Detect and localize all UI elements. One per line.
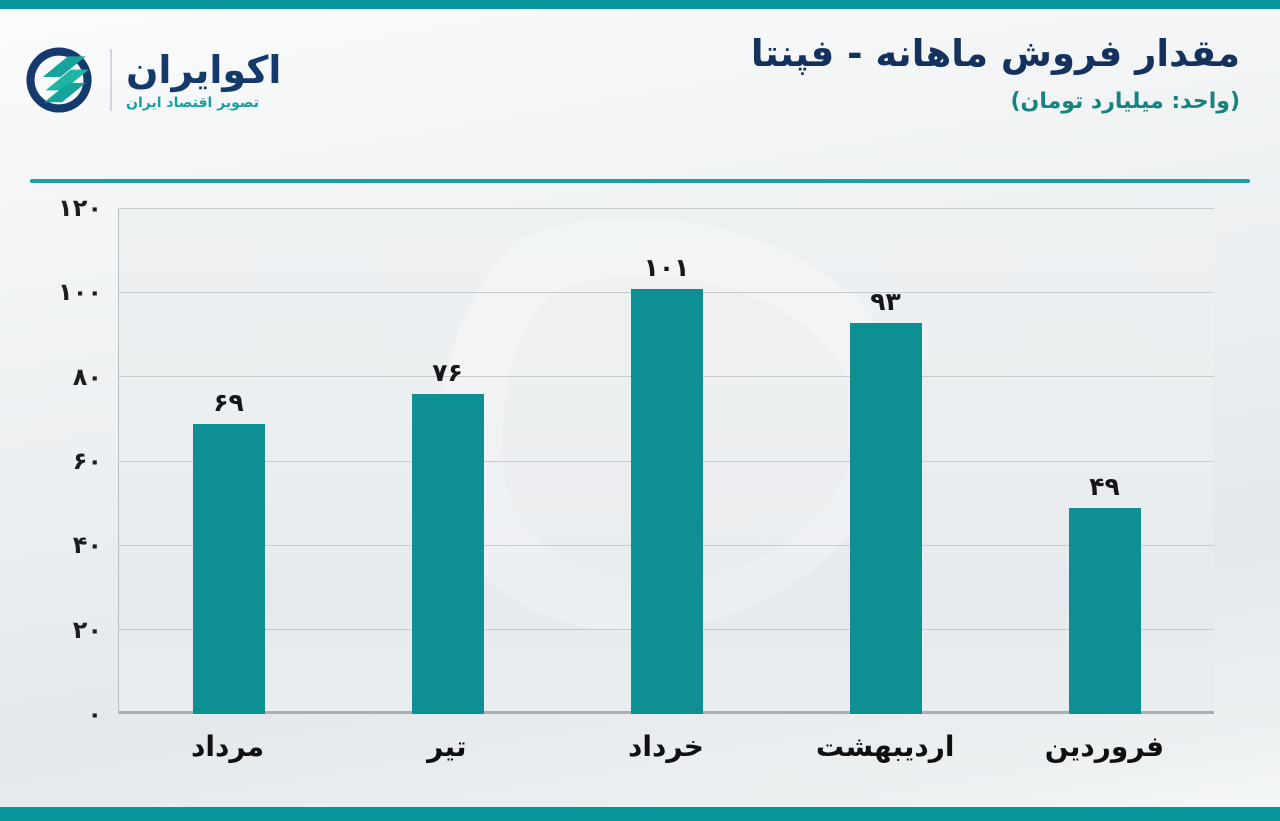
y-axis-tick-label: ۸۰ <box>73 363 102 391</box>
y-axis-tick-label: ۰ <box>87 700 102 728</box>
logo-title: اکوایران <box>126 51 281 89</box>
bar-value-label: ۴۹ <box>1089 472 1120 501</box>
x-axis-category-label: فروردین <box>995 730 1214 763</box>
bar-slot: ۱۰۱ <box>557 209 776 714</box>
bar[interactable]: ۴۹ <box>1069 508 1141 714</box>
bar-slot: ۹۳ <box>776 209 995 714</box>
x-axis-category-label: مرداد <box>118 730 337 763</box>
bar-slot: ۷۶ <box>338 209 557 714</box>
page-title: مقدار فروش ماهانه - فپنتا <box>751 31 1240 77</box>
bar-chart: ۰۲۰۴۰۶۰۸۰۱۰۰۱۲۰ ۴۹۹۳۱۰۱۷۶۶۹ فروردیناردیب… <box>0 190 1280 790</box>
chart-page: اکوایران تصویر اقتصاد ایران مقدار فروش م… <box>0 0 1280 821</box>
brand-logo: اکوایران تصویر اقتصاد ایران <box>22 43 281 117</box>
bar[interactable]: ۶۹ <box>193 424 265 714</box>
ecoiran-globe-stripes-icon <box>22 43 96 117</box>
top-accent-bar <box>0 0 1280 9</box>
page-subtitle-unit: (واحد: میلیارد تومان) <box>751 89 1240 114</box>
logo-divider <box>110 49 112 111</box>
bar-value-label: ۱۰۱ <box>644 253 690 282</box>
y-axis-tick-labels: ۰۲۰۴۰۶۰۸۰۱۰۰۱۲۰ <box>0 208 110 714</box>
bar-slot: ۶۹ <box>119 209 338 714</box>
logo-wordmark: اکوایران تصویر اقتصاد ایران <box>126 51 281 110</box>
plot-background: ۴۹۹۳۱۰۱۷۶۶۹ <box>118 208 1214 714</box>
bar-slot: ۴۹ <box>995 209 1214 714</box>
y-axis-tick-label: ۱۲۰ <box>58 194 102 222</box>
bar-value-label: ۷۶ <box>432 358 463 387</box>
y-axis-tick-label: ۴۰ <box>73 531 102 559</box>
page-header: اکوایران تصویر اقتصاد ایران مقدار فروش م… <box>0 9 1280 169</box>
title-block: مقدار فروش ماهانه - فپنتا (واحد: میلیارد… <box>751 31 1240 114</box>
bar-value-label: ۶۹ <box>213 388 244 417</box>
bar-value-label: ۹۳ <box>870 287 901 316</box>
y-axis-tick-label: ۲۰ <box>73 616 102 644</box>
x-axis-category-labels: فروردیناردیبهشتخردادتیرمرداد <box>118 730 1214 763</box>
x-axis-category-label: تیر <box>337 730 556 763</box>
x-axis-category-label: خرداد <box>556 730 775 763</box>
bar[interactable]: ۷۶ <box>412 394 484 714</box>
y-axis-tick-label: ۱۰۰ <box>58 278 102 306</box>
bar[interactable]: ۹۳ <box>850 323 922 714</box>
bar[interactable]: ۱۰۱ <box>631 289 703 714</box>
plot-area: ۴۹۹۳۱۰۱۷۶۶۹ <box>118 208 1214 714</box>
x-axis-category-label: اردیبهشت <box>776 730 995 763</box>
bar-series: ۴۹۹۳۱۰۱۷۶۶۹ <box>119 209 1214 714</box>
header-divider <box>30 179 1250 183</box>
logo-subtitle: تصویر اقتصاد ایران <box>126 96 259 110</box>
y-axis-tick-label: ۶۰ <box>73 447 102 475</box>
bottom-accent-bar <box>0 807 1280 821</box>
